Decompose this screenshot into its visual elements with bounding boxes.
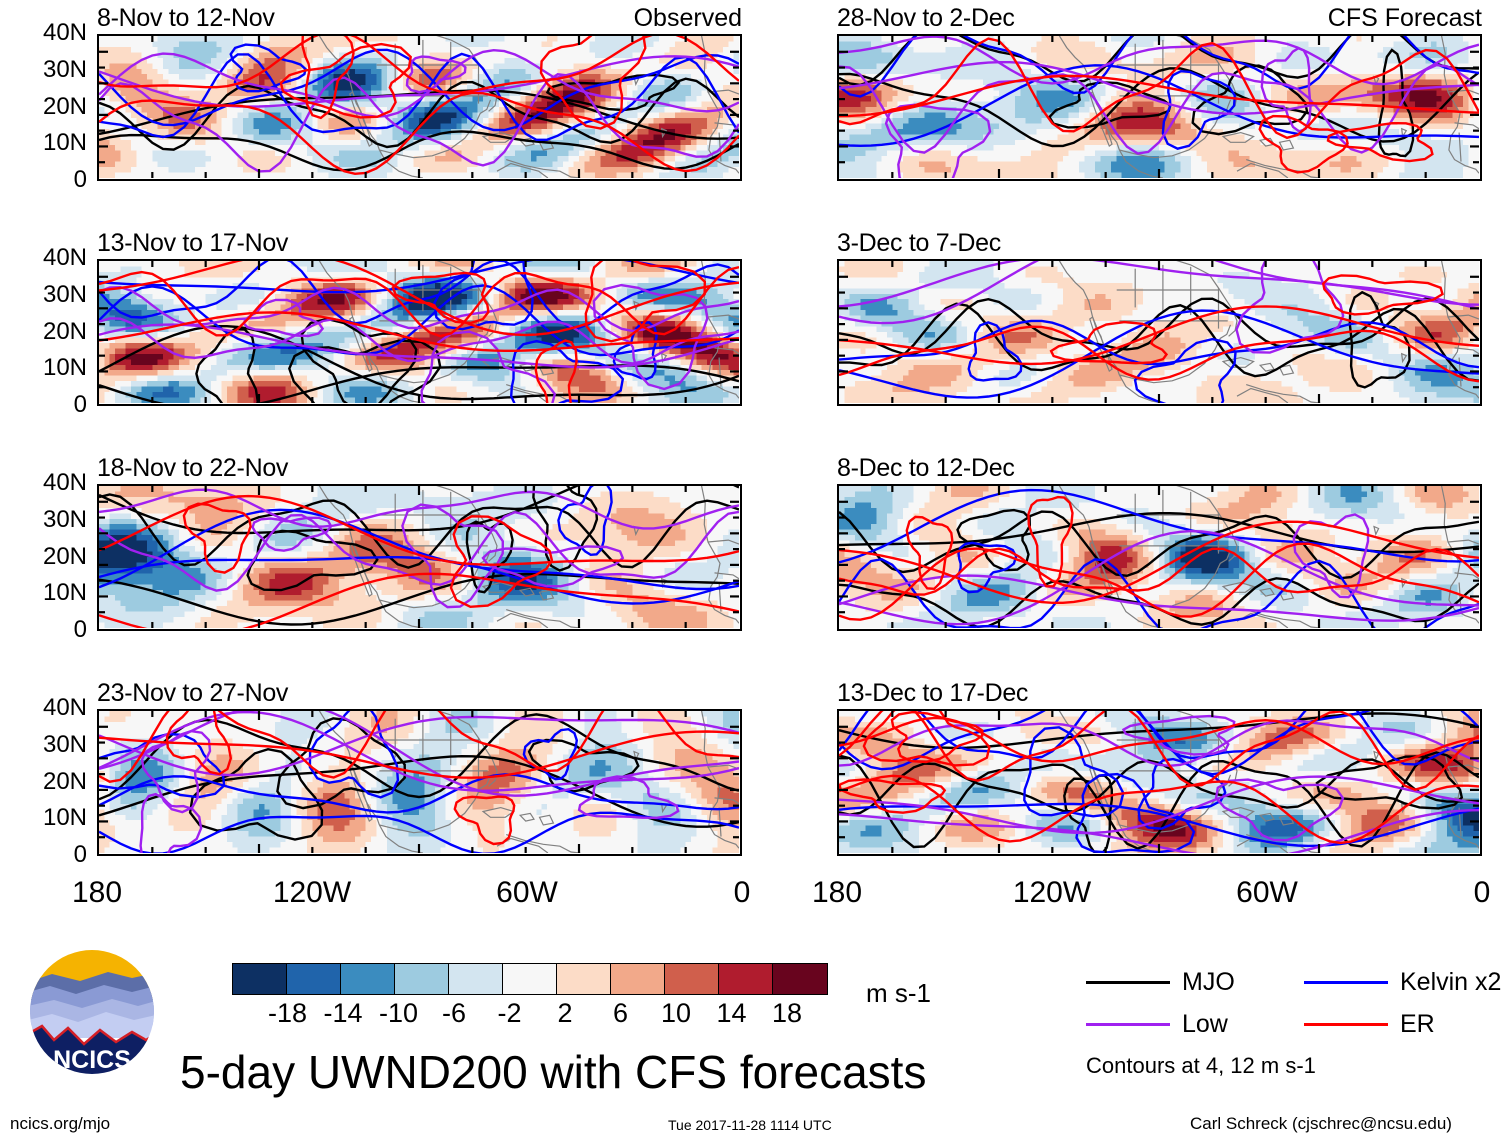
colorbar-swatch-7 (611, 964, 665, 994)
y-tick-label: 20N (5, 543, 87, 571)
map-panel-7: 13-Dec to 17-Dec (837, 709, 1482, 856)
map-canvas-1 (97, 259, 742, 406)
colorbar (232, 963, 828, 995)
ncics-logo-graphic: NCICS (28, 948, 156, 1076)
legend-entry-mjo: MJO (1086, 968, 1235, 997)
colorbar-swatch-8 (665, 964, 719, 994)
map-panel-1: 13-Nov to 17-Nov40N30N20N10N0 (97, 259, 742, 406)
colorbar-swatch-3 (395, 964, 449, 994)
colorbar-tick-2: -10 (379, 998, 418, 1029)
footer-left-link[interactable]: ncics.org/mjo (10, 1114, 110, 1134)
footer-author: Carl Schreck (cjschrec@ncsu.edu) (1190, 1114, 1452, 1134)
y-tick-label: 10N (5, 579, 87, 607)
y-tick-label: 0 (5, 391, 87, 419)
legend-entry-er: ER (1304, 1010, 1435, 1039)
colorbar-tick-7: 10 (661, 998, 691, 1029)
x-tick-label: 180 (797, 876, 877, 910)
y-tick-label: 0 (5, 166, 87, 194)
map-canvas-3 (97, 709, 742, 856)
colorbar-tick-4: -2 (497, 998, 521, 1029)
map-canvas-0 (97, 34, 742, 181)
x-tick-label: 60W (487, 876, 567, 910)
colorbar-swatch-10 (773, 964, 827, 994)
colorbar-swatch-6 (557, 964, 611, 994)
y-tick-label: 40N (5, 694, 87, 722)
colorbar-swatch-5 (503, 964, 557, 994)
y-tick-label: 30N (5, 731, 87, 759)
panel-title-5: 3-Dec to 7-Dec (837, 229, 1001, 258)
x-tick-label: 60W (1227, 876, 1307, 910)
mjo-line-swatch (1086, 981, 1170, 985)
y-tick-label: 0 (5, 841, 87, 869)
panel-title-7: 13-Dec to 17-Dec (837, 679, 1028, 708)
er-line-swatch (1304, 1023, 1388, 1027)
y-tick-label: 40N (5, 19, 87, 47)
legend-entry-low: Low (1086, 1010, 1228, 1039)
ncics-logo-text: NCICS (53, 1046, 131, 1074)
y-tick-label: 40N (5, 244, 87, 272)
colorbar-tick-5: 2 (557, 998, 572, 1029)
field-svg-7 (839, 711, 1479, 853)
kelvin-line-swatch (1304, 981, 1388, 985)
y-tick-label: 10N (5, 129, 87, 157)
colorbar-tick-3: -6 (442, 998, 466, 1029)
map-panel-2: 18-Nov to 22-Nov40N30N20N10N0 (97, 484, 742, 631)
legend-label-er: ER (1400, 1010, 1435, 1039)
low-line-swatch (1086, 1023, 1170, 1027)
observed-column-label: Observed (634, 4, 742, 33)
map-panel-4: 28-Nov to 2-DecCFS Forecast (837, 34, 1482, 181)
y-tick-label: 20N (5, 93, 87, 121)
colorbar-tick-9: 18 (772, 998, 802, 1029)
colorbar-swatch-2 (341, 964, 395, 994)
map-panel-3: 23-Nov to 27-Nov40N30N20N10N0 (97, 709, 742, 856)
y-tick-label: 30N (5, 56, 87, 84)
colorbar-units-label: m s-1 (866, 978, 931, 1009)
x-tick-label: 0 (702, 876, 782, 910)
ncics-logo: NCICS (28, 948, 156, 1076)
footer-timestamp: Tue 2017-11-28 1114 UTC (668, 1117, 832, 1133)
legend-label-mjo: MJO (1182, 968, 1235, 997)
field-svg-1 (99, 261, 739, 403)
contour-interval-note: Contours at 4, 12 m s-1 (1086, 1053, 1316, 1079)
y-tick-label: 10N (5, 354, 87, 382)
figure-title: 5-day UWND200 with CFS forecasts (180, 1045, 926, 1099)
map-canvas-2 (97, 484, 742, 631)
panel-title-3: 23-Nov to 27-Nov (97, 679, 288, 708)
colorbar-swatch-1 (287, 964, 341, 994)
legend-label-kelvin: Kelvin x2 (1400, 968, 1501, 997)
panel-title-4: 28-Nov to 2-Dec (837, 4, 1015, 33)
colorbar-tick-6: 6 (613, 998, 628, 1029)
map-canvas-7 (837, 709, 1482, 856)
panel-title-6: 8-Dec to 12-Dec (837, 454, 1015, 483)
field-svg-6 (839, 486, 1479, 628)
colorbar-tick-1: -14 (323, 998, 362, 1029)
x-tick-label: 180 (57, 876, 137, 910)
field-svg-4 (839, 36, 1479, 178)
panel-title-0: 8-Nov to 12-Nov (97, 4, 275, 33)
map-panel-0: 8-Nov to 12-NovObserved40N30N20N10N0 (97, 34, 742, 181)
panel-title-1: 13-Nov to 17-Nov (97, 229, 288, 258)
colorbar-tick-8: 14 (716, 998, 746, 1029)
y-tick-label: 20N (5, 318, 87, 346)
x-tick-label: 120W (272, 876, 352, 910)
field-svg-0 (99, 36, 739, 178)
field-svg-2 (99, 486, 739, 628)
field-svg-5 (839, 261, 1479, 403)
colorbar-tick-0: -18 (268, 998, 307, 1029)
y-tick-label: 40N (5, 469, 87, 497)
panel-title-2: 18-Nov to 22-Nov (97, 454, 288, 483)
map-panel-5: 3-Dec to 7-Dec (837, 259, 1482, 406)
y-tick-label: 30N (5, 281, 87, 309)
colorbar-swatch-0 (233, 964, 287, 994)
legend-label-low: Low (1182, 1010, 1228, 1039)
map-panel-6: 8-Dec to 12-Dec (837, 484, 1482, 631)
y-tick-label: 0 (5, 616, 87, 644)
x-tick-label: 120W (1012, 876, 1092, 910)
map-canvas-4 (837, 34, 1482, 181)
forecast-column-label: CFS Forecast (1328, 4, 1482, 33)
map-canvas-5 (837, 259, 1482, 406)
colorbar-swatch-9 (719, 964, 773, 994)
legend-entry-kelvin: Kelvin x2 (1304, 968, 1501, 997)
x-tick-label: 0 (1442, 876, 1510, 910)
y-tick-label: 20N (5, 768, 87, 796)
y-tick-label: 30N (5, 506, 87, 534)
map-canvas-6 (837, 484, 1482, 631)
colorbar-tick-labels: -18-14-10-6-226101418 (232, 998, 832, 1032)
field-svg-3 (99, 711, 739, 853)
colorbar-swatch-4 (449, 964, 503, 994)
y-tick-label: 10N (5, 804, 87, 832)
